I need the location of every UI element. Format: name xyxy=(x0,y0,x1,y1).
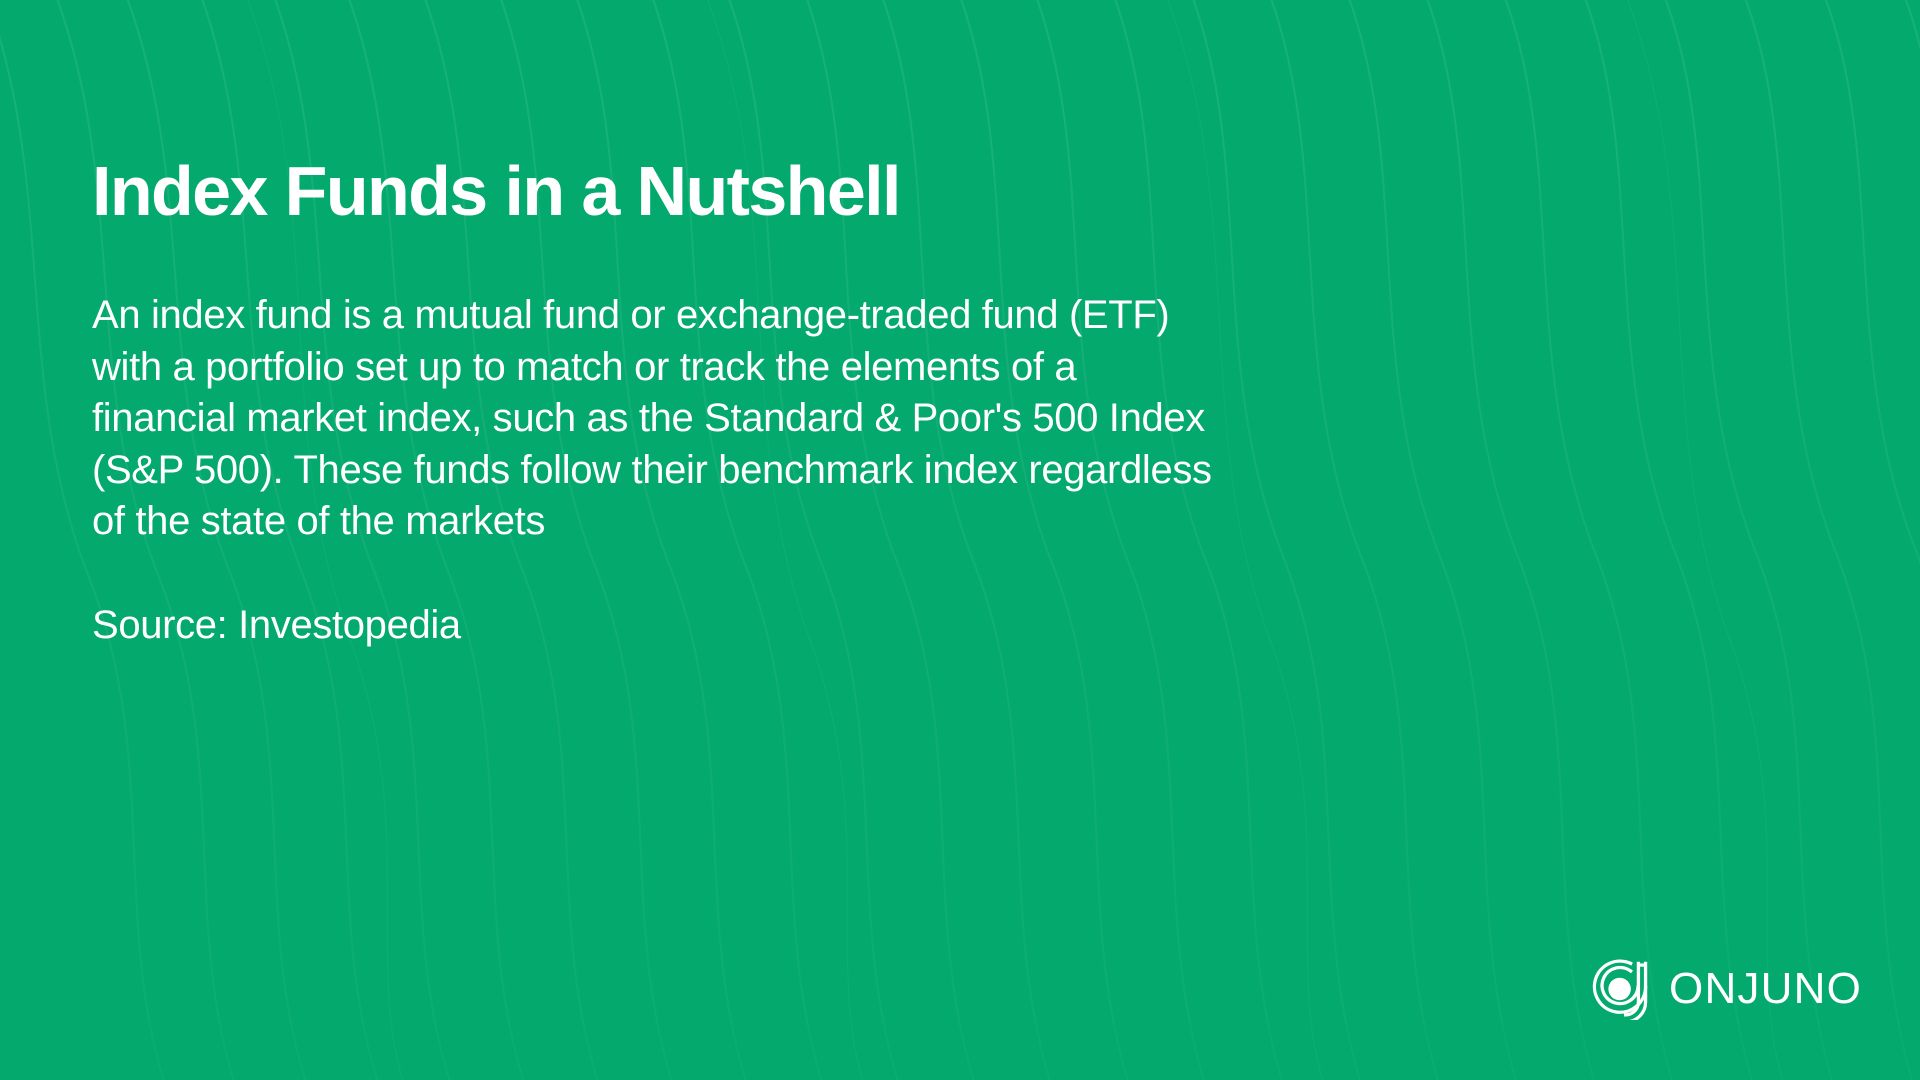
body-line-1: An index fund is a mutual fund or exchan… xyxy=(92,290,1352,342)
body-line-5: of the state of the markets xyxy=(92,496,1352,548)
page-title: Index Funds in a Nutshell xyxy=(92,150,1652,232)
onjuno-wordmark: ONJUNO xyxy=(1669,967,1862,1011)
body-paragraph: An index fund is a mutual fund or exchan… xyxy=(92,290,1352,548)
slide-content: Index Funds in a Nutshell An index fund … xyxy=(92,150,1652,651)
slide-canvas: Index Funds in a Nutshell An index fund … xyxy=(0,0,1920,1080)
brand-logo: ONJUNO xyxy=(1589,956,1862,1022)
body-line-2: with a portfolio set up to match or trac… xyxy=(92,342,1352,394)
body-line-3: financial market index, such as the Stan… xyxy=(92,393,1352,445)
source-attribution: Source: Investopedia xyxy=(92,600,1652,652)
body-line-4: (S&P 500). These funds follow their benc… xyxy=(92,445,1352,497)
onjuno-spiral-icon xyxy=(1589,958,1651,1020)
